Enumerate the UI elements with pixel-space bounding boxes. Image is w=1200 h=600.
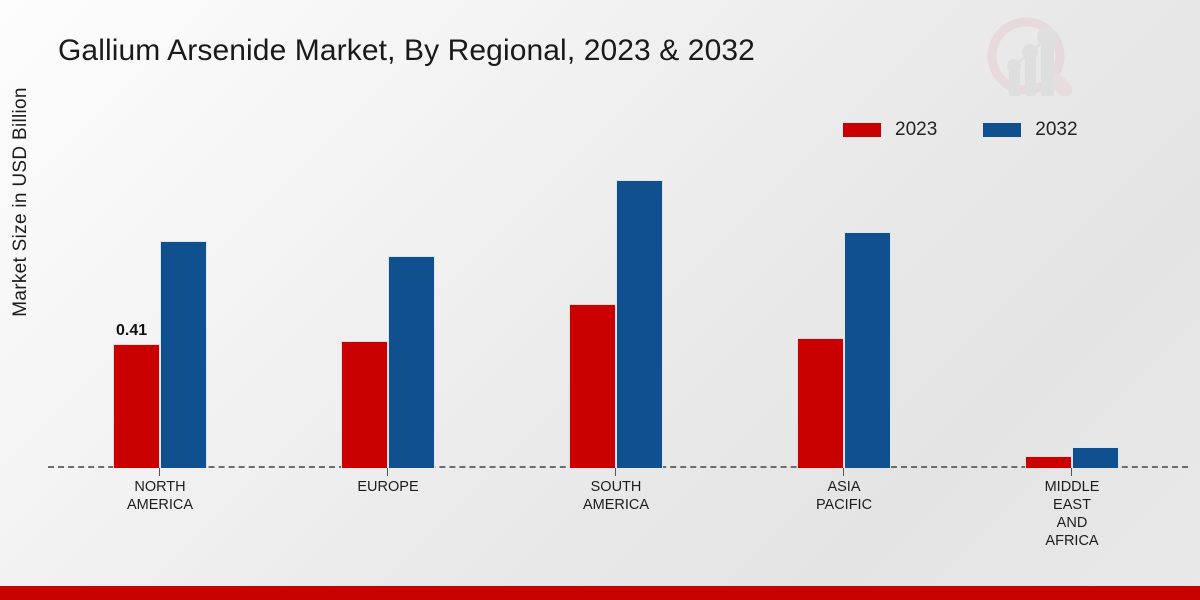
category-label-middle-east-and-africa: MIDDLE EAST AND AFRICA [1045,478,1100,550]
plot-area: NORTH AMERICA 0.41 EUROPE SOUTH AMERICA … [48,150,1188,468]
brand-watermark-logo [978,8,1086,116]
axis-tick [1071,468,1072,476]
legend-item-2023[interactable]: 2023 [843,119,937,141]
legend-swatch-2023 [843,123,881,137]
category-label-south-america: SOUTH AMERICA [583,478,649,514]
y-axis-title: Market Size in USD Billion [10,27,32,377]
bar-2032-south-america[interactable] [616,180,663,468]
bottom-accent-strip [0,586,1200,600]
bar-2032-asia-pacific[interactable] [844,232,891,468]
bar-group-south-america: SOUTH AMERICA [566,150,666,468]
legend-item-2032[interactable]: 2032 [983,119,1077,141]
bar-2023-south-america[interactable] [569,304,616,468]
bar-group-middle-east-and-africa: MIDDLE EAST AND AFRICA [1022,150,1122,468]
legend-label-2023: 2023 [895,119,937,141]
axis-tick [843,468,844,476]
axis-tick [387,468,388,476]
category-label-europe: EUROPE [357,478,418,496]
bar-group-asia-pacific: ASIA PACIFIC [794,150,894,468]
chart-canvas: Gallium Arsenide Market, By Regional, 20… [0,0,1200,600]
legend-swatch-2032 [983,123,1021,137]
legend-label-2032: 2032 [1035,119,1077,141]
chart-title: Gallium Arsenide Market, By Regional, 20… [58,34,755,68]
bar-group-north-america: NORTH AMERICA 0.41 [110,150,210,468]
bar-2023-north-america[interactable] [113,344,160,468]
category-label-north-america: NORTH AMERICA [127,478,193,514]
chart-legend: 2023 2032 [843,119,1078,141]
bar-2032-north-america[interactable] [160,241,207,468]
bar-2023-europe[interactable] [341,341,388,468]
axis-tick [159,468,160,476]
category-label-asia-pacific: ASIA PACIFIC [816,478,872,514]
bar-2032-middle-east-and-africa[interactable] [1072,447,1119,468]
bar-2023-middle-east-and-africa[interactable] [1025,456,1072,468]
bar-2023-asia-pacific[interactable] [797,338,844,468]
axis-tick [615,468,616,476]
bar-2032-europe[interactable] [388,256,435,468]
value-label-north-america-2023: 0.41 [116,322,147,340]
bar-group-europe: EUROPE [338,150,438,468]
